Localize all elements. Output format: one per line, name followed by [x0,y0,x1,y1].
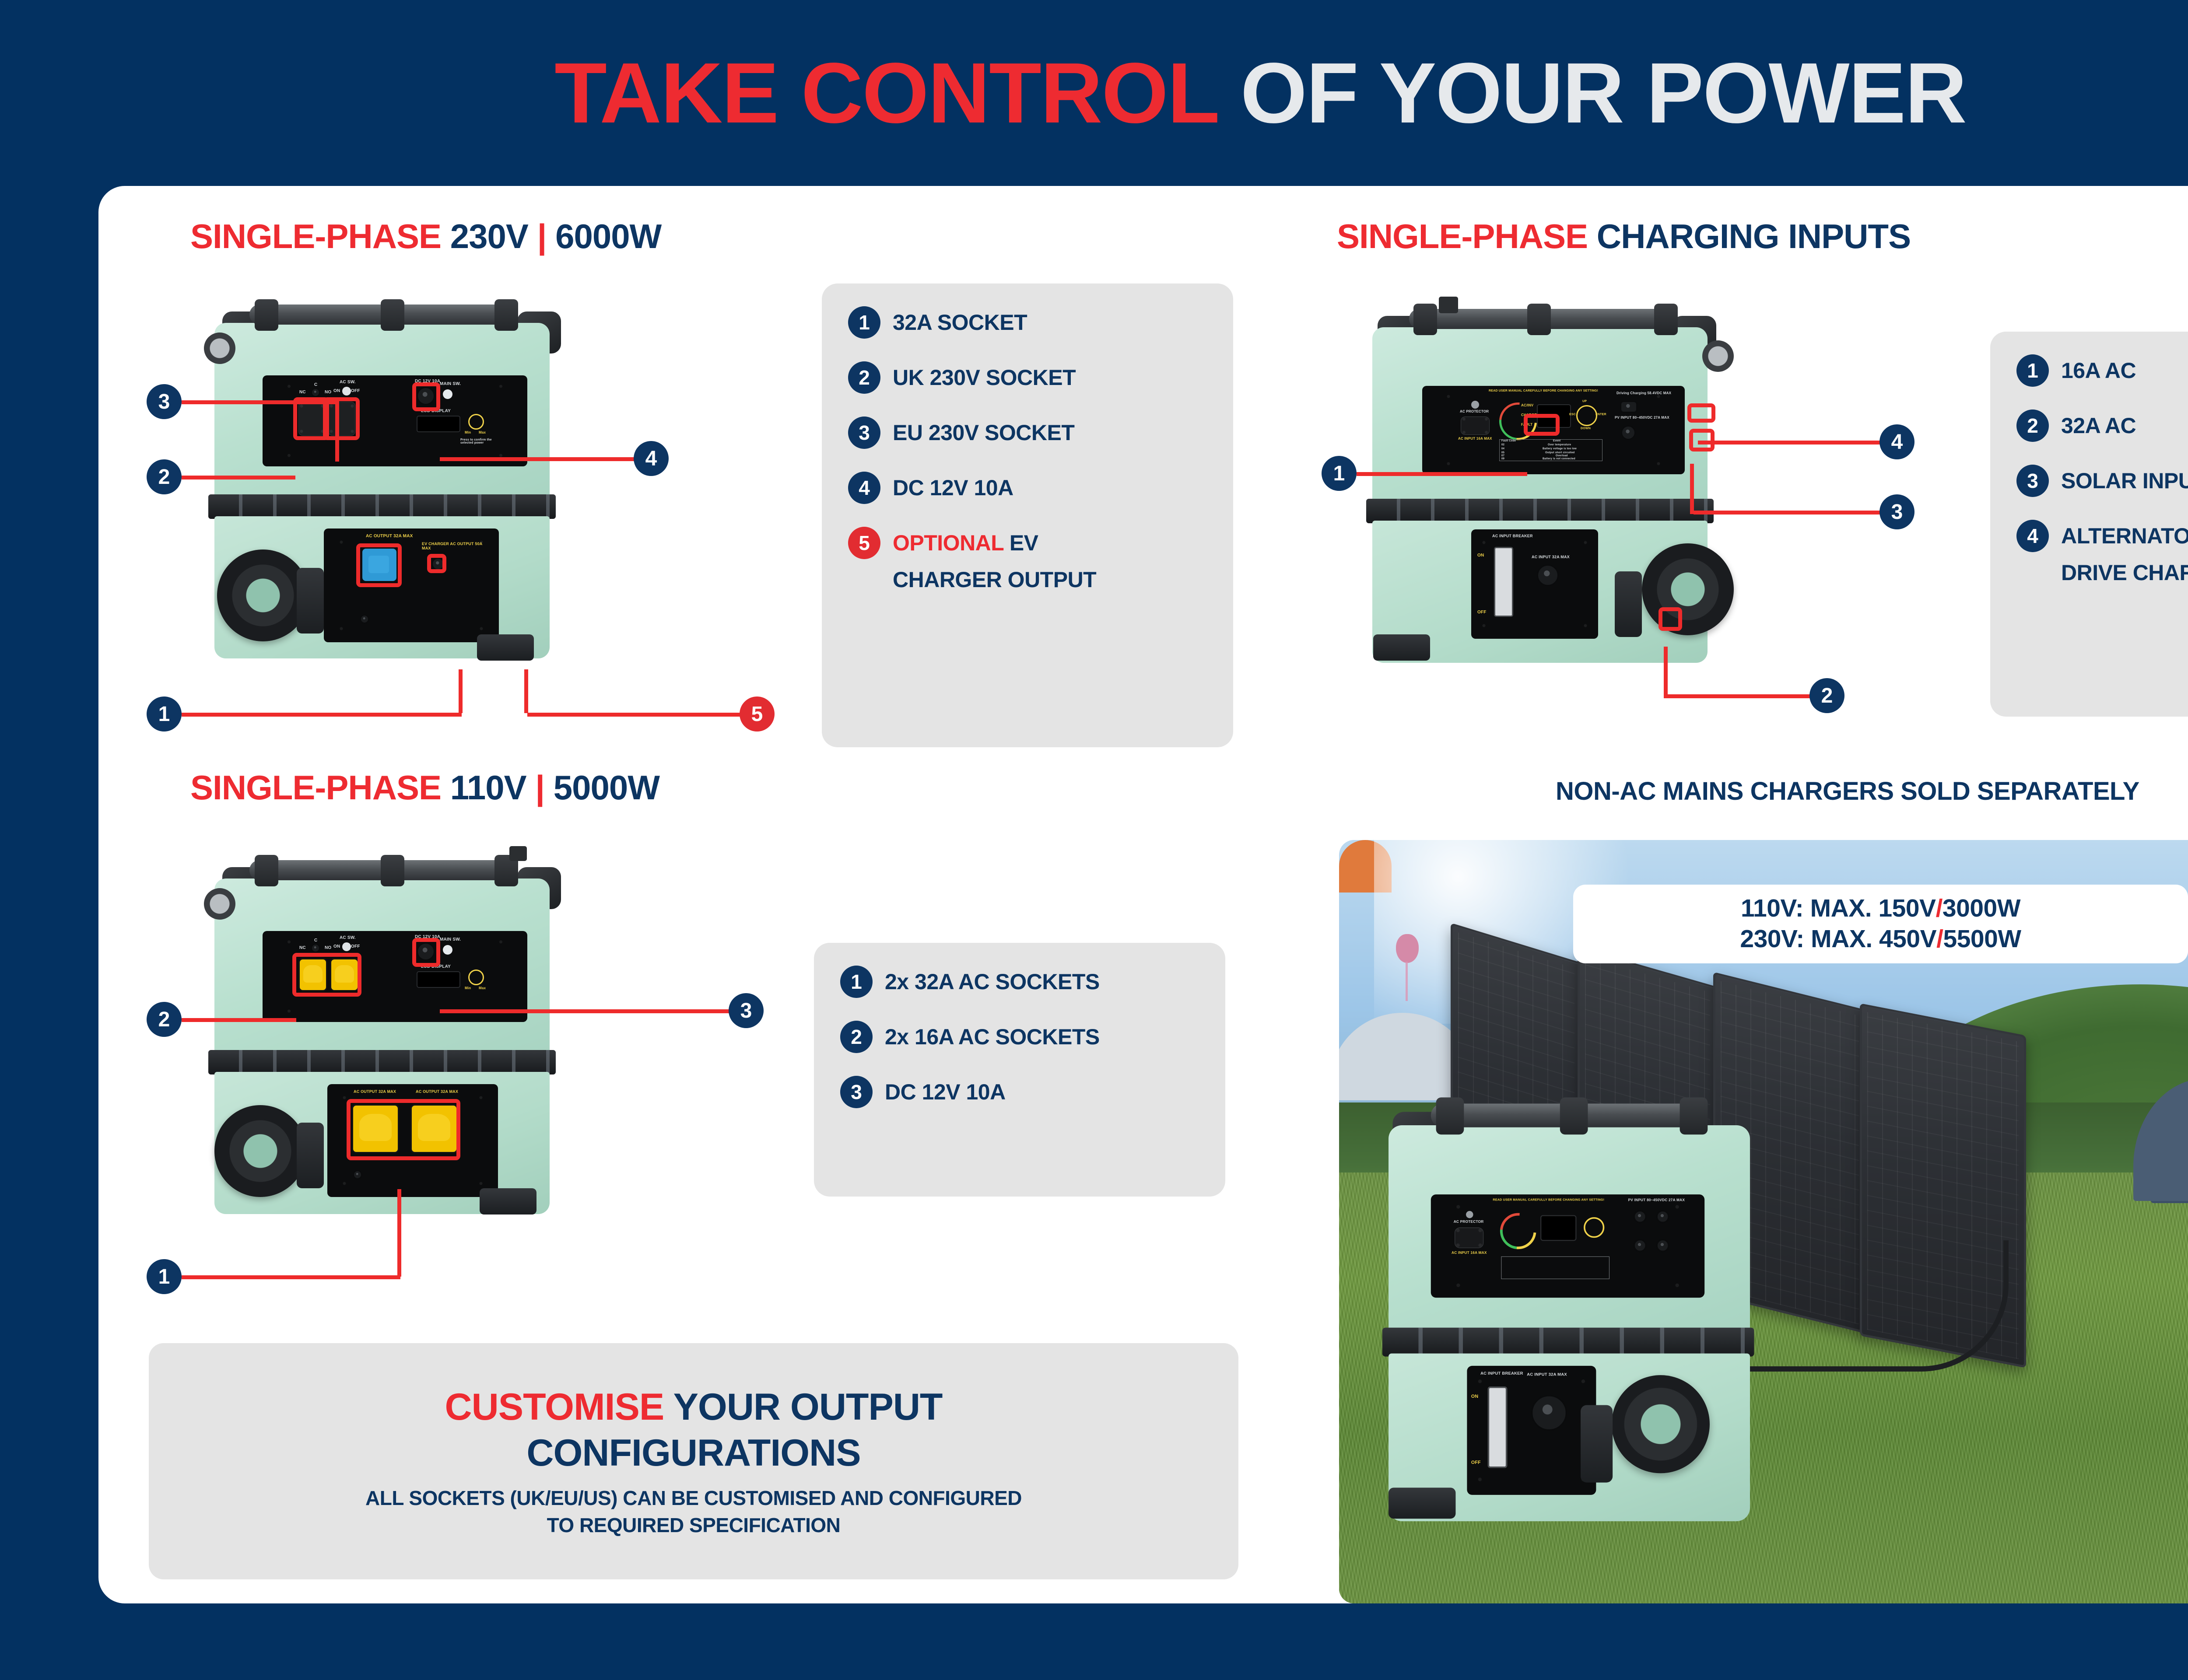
label-ac-sw: AC SW. [340,935,356,940]
solar-input-spec-callout: 110V: MAX. 150V/3000W 230V: MAX. 450V/55… [1573,885,2188,963]
legend-badge: 1 [848,306,880,339]
lcd-display [417,416,460,432]
label-ac-output-32a: AC OUTPUT 32A MAX [366,534,413,539]
solar-input-port[interactable] [1621,425,1636,440]
lcd-display [417,971,460,988]
support-stand [1581,1405,1613,1483]
heading-230-power: 6000W [555,217,661,255]
label-min: Min [465,986,471,990]
earth-terminal [353,1170,362,1179]
heading-110-separator: | [535,768,544,807]
label-main-sw: MAIN SW. [440,937,461,942]
label-min: Min [465,430,471,434]
label-dc-12v: DC 12V 10A [415,379,440,384]
label-manual-warning: READ USER MANUAL CAREFULLY BEFORE CHANGI… [1489,389,1598,392]
label-down: DOWN [1581,427,1591,430]
legend-label: 2x 32A AC SOCKETS [885,969,1100,994]
legend-label-optional-line2: CHARGER OUTPUT [893,567,1207,592]
legend-label: 32A SOCKET [893,310,1027,335]
legend-label: 32A AC [2061,413,2136,438]
ac-input-32a-socket[interactable] [1537,564,1559,586]
label-fault: FAULT [1521,423,1532,427]
legend-label: 2x 16A AC SOCKETS [885,1024,1100,1050]
leader-1v-110 [397,1189,401,1277]
control-panel-inputs: READ USER MANUAL CAREFULLY BEFORE CHANGI… [1422,386,1685,474]
support-stand [297,568,324,633]
ac-input-16a-socket[interactable] [1455,1228,1483,1248]
customise-line1: CUSTOMISE YOUR OUTPUT [445,1386,943,1429]
callout-badge-1-inputs: 1 [1322,456,1357,491]
label-ac-sw: AC SW. [340,380,356,385]
customise-line3: ALL SOCKETS (UK/EU/US) CAN BE CUSTOMISED… [365,1486,1022,1510]
callout-badge-2-230: 2 [147,459,182,494]
lower-panel-inputs: AC INPUT BREAKER ON OFF AC INPUT 32A MAX [1471,529,1598,639]
socket-32a-yellow-right[interactable] [410,1104,458,1153]
lcd-display [1537,404,1571,428]
label-no: NO [325,945,331,950]
handle-clip-left [255,855,278,886]
handle-clip-left [1436,1097,1464,1134]
navigation-dial[interactable] [1576,405,1597,426]
control-panel-photo: READ USER MANUAL CAREFULLY BEFORE CHANGI… [1431,1194,1704,1298]
fault-event: Output short circuited [1545,451,1574,454]
label-ac-input-16a: AC INPUT 16A MAX [1452,1251,1487,1255]
ac-switch-button[interactable] [342,387,351,395]
lcd-display [1540,1215,1577,1241]
legend-badge: 3 [2016,465,2049,497]
label-pv-input: PV INPUT 80~450VDC 27A MAX [1628,1199,1685,1202]
leader-1-110 [182,1275,400,1279]
legend-item[interactable]: 2 2x 16A AC SOCKETS [840,1021,1199,1053]
label-on: ON [1477,553,1484,558]
product-diagram-230v: C NC NO AC SW. ON OFF AC OUTPUT AC OUTPU… [188,289,582,691]
callout-230-sep: / [1936,925,1943,953]
label-c: C [314,382,317,387]
callout-230-suffix: 5500W [1943,925,2021,953]
leader-3v-inputs [1690,464,1694,514]
mid-band [1366,499,1714,523]
ac-input-32a-socket[interactable] [1531,1395,1567,1431]
label-enter: ENTER [1595,413,1606,416]
pv-terminal-negative[interactable] [1633,1210,1647,1224]
legend-output-230: 1 32A SOCKET 2 UK 230V SOCKET 3 EU 230V … [822,283,1233,747]
foot-left [1389,1487,1455,1519]
leader-4-inputs [1698,441,1882,444]
customise-panel: CUSTOMISE YOUR OUTPUT CONFIGURATIONS ALL… [149,1343,1238,1579]
legend-badge: 4 [2016,520,2049,552]
dc-12v-socket[interactable] [417,387,435,405]
label-ac-output-b: AC OUTPUT 32A MAX [416,1089,458,1094]
caster-wheel [204,888,235,920]
handle-clip-left [1413,304,1437,335]
customise-line1-red: CUSTOMISE [445,1386,664,1428]
legend-label: EU 230V SOCKET [893,420,1074,445]
socket-16a-yellow-left[interactable] [298,958,327,991]
heading-230-prefix: SINGLE-PHASE [190,217,441,255]
callout-badge-4-inputs: 4 [1879,424,1914,459]
legend-badge: 2 [2016,409,2049,442]
leader-2-230 [182,476,295,479]
heading-110-power: 5000W [554,768,659,807]
legend-badge-optional: 5 [848,527,880,559]
leader-3-110 [440,1009,732,1013]
power-dial[interactable] [468,969,484,985]
label-c: C [314,938,317,943]
leader-4-230 [440,457,637,461]
event-header: Event [1553,440,1560,442]
label-ac-input-32a: AC INPUT 32A MAX [1532,555,1570,559]
legend-label-optional-red: OPTIONAL [893,531,1003,555]
label-ac-inv: AC/INV [1521,403,1533,407]
leader-3v-230 [335,400,339,462]
legend-badge: 4 [848,472,880,504]
legend-badge: 2 [848,361,880,394]
status-gauge-icon [1493,1206,1543,1256]
legend-badge: 3 [840,1076,873,1108]
product-diagram-110v: C NC NO AC SW. ON OFF DC 12V 10A MAIN SW… [188,844,582,1238]
leader-1-inputs [1357,472,1527,476]
handle-clip-mid [381,299,404,331]
non-ac-chargers-note: NON-AC MAINS CHARGERS SOLD SEPARATELY [1556,777,2139,806]
page-title-red: TAKE CONTROL [554,45,1217,141]
legend-item[interactable]: 1 16A AC [2016,354,2188,387]
fault-code: 04 [1501,448,1504,450]
wheel [214,1105,306,1197]
legend-label: DC 12V 10A [885,1079,1006,1105]
legend-label: 16A AC [2061,358,2136,383]
page-title: TAKE CONTROL OF YOUR POWER [0,50,2188,136]
lower-panel-photo: AC INPUT BREAKER ON OFF AC INPUT 32A MAX [1467,1366,1596,1495]
socket-32a-blue[interactable] [361,547,398,583]
status-gauge-icon [1491,395,1544,448]
handle-clip-right [1680,1097,1708,1134]
callout-badge-4-230: 4 [634,441,669,476]
legend-label-optional: OPTIONAL EV [893,530,1038,556]
heading-230-voltage: 230V [450,217,528,255]
callout-badge-2-110: 2 [147,1002,182,1037]
leader-2-inputs [1667,694,1812,698]
legend-item-optional-ev[interactable]: 5 OPTIONAL EV [848,527,1207,559]
legend-item[interactable]: 4 DC 12V 10A [848,472,1207,504]
pv-terminal-extra[interactable] [1656,1210,1669,1224]
label-off: OFF [351,944,360,949]
customise-line2: CONFIGURATIONS [526,1431,860,1475]
control-panel-110: C NC NO AC SW. ON OFF DC 12V 10A MAIN SW… [263,931,527,1022]
fault-code-header: Fault Code [1501,440,1516,442]
leader-5v-230 [524,669,528,713]
alternator-charge-port[interactable] [1620,401,1637,413]
label-off: OFF [1477,610,1487,615]
legend-badge: 2 [840,1021,873,1053]
legend-item[interactable]: 3 SOLAR INPUT [2016,465,2188,497]
handle-clip-right [1654,304,1678,335]
label-no: NO [325,390,331,395]
ac-protector-button[interactable] [1466,1211,1473,1218]
callout-badge-1-110: 1 [147,1259,182,1294]
main-switch-button[interactable] [443,389,452,399]
label-nc: NC [299,390,306,395]
control-panel-230: C NC NO AC SW. ON OFF AC OUTPUT AC OUTPU… [263,375,527,466]
fault-code: 07 [1501,455,1504,457]
main-switch-button[interactable] [443,945,452,955]
customise-line1-navy: YOUR OUTPUT [673,1386,943,1428]
legend-item[interactable]: 2 32A AC [2016,409,2188,442]
callout-110-prefix: 110V: MAX. 150V [1741,894,1936,922]
fault-event: Battery is not connected [1543,458,1575,460]
leader-1-230 [182,713,462,717]
legend-item[interactable]: 4 ALTERNATOR [2016,520,2188,552]
fault-code: 05 [1501,451,1504,454]
label-up: UP [1582,400,1587,403]
callout-line-110: 110V: MAX. 150V/3000W [1741,893,2020,924]
fault-event: Over temperature [1548,444,1571,446]
legend-item[interactable]: 3 EU 230V SOCKET [848,416,1207,449]
legend-item[interactable]: 1 32A SOCKET [848,306,1207,339]
label-ac-protector: AC PROTECTOR [1454,1220,1484,1224]
rotary-connector-icon [311,943,320,953]
antenna-stub [509,846,527,861]
navigation-dial[interactable] [1584,1217,1604,1238]
leader-3-230 [182,400,339,404]
callout-badge-3-230: 3 [147,384,182,419]
label-main-sw: MAIN SW. [440,381,461,386]
label-ac-output-left: AC OUTPUT [299,437,323,441]
socket-16a-yellow-right[interactable] [330,958,359,991]
callout-line-230: 230V: MAX. 450V/5500W [1740,924,2021,955]
fault-code: 09 [1501,458,1504,460]
customise-line4: TO REQUIRED SPECIFICATION [547,1513,841,1537]
fault-code-table: Fault Code Event 02 Over temperature 04 … [1499,439,1602,461]
heading-110-voltage: 110V [450,768,526,807]
label-lcd: LCD DISPLAY [421,964,451,969]
power-dial[interactable] [468,414,484,430]
foot-left [1373,634,1430,661]
eu-socket[interactable] [328,402,355,436]
handle-clip-right [494,299,518,331]
caster-wheel [1702,340,1734,372]
legend-item[interactable]: 3 DC 12V 10A [840,1076,1199,1108]
label-on: ON [333,944,340,949]
callout-badge-2-inputs: 2 [1809,678,1844,713]
dc-12v-socket[interactable] [417,942,435,961]
pv-terminal-spare[interactable] [1656,1239,1669,1253]
legend-label-line2: DRIVE CHARGER [2061,560,2188,585]
label-ac-input-breaker: AC INPUT BREAKER [1492,534,1533,538]
fault-event: Battery voltage is too low [1543,448,1577,450]
page-title-white: OF YOUR POWER [1241,45,1966,141]
kite [1396,934,1419,963]
caster-wheel [204,332,235,364]
ac-protector-button[interactable] [1471,401,1479,409]
heading-charging-inputs: SINGLE-PHASE CHARGING INPUTS [1337,217,1911,256]
legend-label-optional-rest: EV [1010,531,1038,555]
leader-3-inputs [1694,511,1882,514]
legend-badge: 1 [2016,354,2049,387]
label-on: ON [333,388,340,393]
label-dc-12v: DC 12V 10A [415,934,440,939]
label-manual-warning: READ USER MANUAL CAREFULLY BEFORE CHANGI… [1493,1199,1604,1202]
wheel [217,549,309,641]
fault-event: Overload [1556,455,1568,457]
heading-110-prefix: SINGLE-PHASE [190,768,441,807]
fault-code-table [1501,1256,1609,1279]
wheel [1642,543,1734,635]
callout-110-sep: / [1936,894,1943,922]
label-max: Max [479,430,486,434]
callout-badge-1-230: 1 [147,696,182,731]
leader-5-230 [527,713,742,717]
support-stand [1615,571,1642,637]
mid-band [208,1050,556,1074]
label-ac-input-32a: AC INPUT 32A MAX [1527,1372,1567,1377]
wheel [1612,1375,1710,1473]
socket-32a-yellow-left[interactable] [352,1104,399,1153]
rotary-connector-icon [311,388,320,397]
label-pv-input: PV INPUT 80~450VDC 27A MAX [1615,416,1669,420]
ac-input-breaker-switch[interactable] [1488,1386,1508,1468]
label-ev-charger: EV CHARGER AC OUTPUT 50A MAX [422,542,483,550]
ac-input-16a-socket[interactable] [1461,416,1490,435]
mid-band [1382,1328,1754,1357]
leader-2v-inputs [1664,647,1668,698]
uk-socket[interactable] [298,402,326,436]
label-nc: NC [299,945,306,950]
product-photo-unit: READ USER MANUAL CAREFULLY BEFORE CHANGI… [1374,1085,1901,1603]
kite-tail [1406,962,1408,1001]
label-on: ON [1471,1394,1478,1399]
heading-single-phase-110: SINGLE-PHASE 110V | 5000W [190,768,659,808]
label-ac-protector: AC PROTECTOR [1460,409,1489,413]
legend-charging-inputs: 1 16A AC 2 32A AC 3 SOLAR INPUT 4 ALTERN… [1990,332,2188,717]
legend-label: SOLAR INPUT [2061,468,2188,493]
heading-inputs-rest: CHARGING INPUTS [1597,217,1911,255]
label-driving-charging: Driving Charging 58.4VDC MAX [1616,391,1671,395]
callout-230-prefix: 230V: MAX. 450V [1740,925,1936,953]
legend-output-110: 1 2x 32A AC SOCKETS 2 2x 16A AC SOCKETS … [814,943,1225,1197]
foot-right [477,634,534,661]
foot-right [480,1188,536,1214]
heading-230-separator: | [537,217,547,255]
ac-input-breaker-switch[interactable] [1494,547,1513,617]
legend-label: UK 230V SOCKET [893,365,1076,390]
callout-110-suffix: 3000W [1943,894,2020,922]
handle-clip-left [255,299,278,331]
callout-badge-3-110: 3 [729,993,764,1028]
legend-badge: 1 [840,966,873,998]
label-press-confirm: Press to confirm the selected power [460,438,494,444]
legend-label: DC 12V 10A [893,475,1013,500]
handle-clip-mid [1560,1097,1588,1134]
label-max: Max [479,986,486,990]
label-ac-output-left2: AC OUTPUT [329,437,353,441]
label-lcd: LCD DISPLAY [421,409,451,413]
callout-badge-5-230: 5 [740,696,775,731]
fault-code: 02 [1501,444,1504,446]
lower-panel-110: AC OUTPUT 32A MAX AC OUTPUT 32A MAX [327,1084,498,1197]
label-off: OFF [1471,1460,1481,1465]
label-esc: ESC [1569,413,1576,416]
lower-panel-230: AC OUTPUT 32A MAX EV CHARGER AC OUTPUT 5… [324,528,499,642]
ev-charger-port[interactable] [431,557,445,570]
ac-switch-button[interactable] [342,942,351,951]
legend-item[interactable]: 1 2x 32A AC SOCKETS [840,966,1199,998]
heading-inputs-prefix: SINGLE-PHASE [1337,217,1588,255]
support-stand [297,1123,324,1188]
pv-terminal-positive[interactable] [1633,1239,1647,1253]
callout-badge-3-inputs: 3 [1879,494,1914,529]
handle-clip-mid [1527,304,1551,335]
earth-terminal [360,614,369,624]
legend-badge: 3 [848,416,880,449]
label-ac-output-a: AC OUTPUT 32A MAX [354,1089,396,1094]
legend-item[interactable]: 2 UK 230V SOCKET [848,361,1207,394]
label-ac-input-16a: AC INPUT 16A MAX [1458,437,1492,441]
heading-single-phase-230: SINGLE-PHASE 230V | 6000W [190,217,661,256]
label-off: OFF [351,388,360,393]
antenna-stub [1439,297,1458,313]
leader-2-110 [182,1018,296,1022]
mid-band [208,494,556,519]
legend-label: ALTERNATOR [2061,523,2188,549]
label-charge: CHARGE [1521,413,1537,417]
leader-1v-230 [459,669,463,713]
handle-clip-mid [381,855,404,886]
label-ac-input-breaker: AC INPUT BREAKER [1480,1371,1523,1376]
product-diagram-charging-inputs: READ USER MANUAL CAREFULLY BEFORE CHANGI… [1352,293,1746,687]
